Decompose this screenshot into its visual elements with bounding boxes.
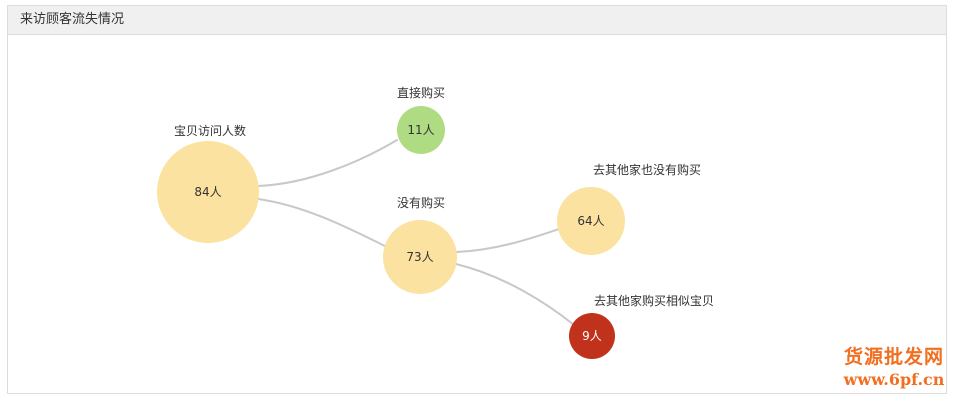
diagram-node-value-no-purchase-elsewhere: 64人 bbox=[577, 215, 604, 227]
panel-header: 来访顾客流失情况 bbox=[8, 6, 946, 35]
flow-diagram: 84人宝贝访问人数11人直接购买73人没有购买64人去其他家也没有购买9人去其他… bbox=[8, 36, 946, 393]
diagram-links-layer bbox=[8, 36, 946, 393]
diagram-node-label-visits: 宝贝访问人数 bbox=[174, 124, 246, 138]
diagram-node-no-purchase[interactable]: 73人 bbox=[383, 220, 457, 294]
page-title: 来访顾客流失情况 bbox=[20, 12, 124, 28]
diagram-node-value-bought-similar-elsewhere: 9人 bbox=[582, 330, 602, 342]
diagram-node-label-direct-purchase: 直接购买 bbox=[397, 86, 445, 100]
diagram-link-no-purchase-to-no-purchase-elsewhere bbox=[457, 229, 559, 252]
diagram-node-bought-similar-elsewhere[interactable]: 9人 bbox=[569, 313, 615, 359]
diagram-node-label-no-purchase: 没有购买 bbox=[397, 196, 445, 210]
diagram-node-direct-purchase[interactable]: 11人 bbox=[397, 106, 445, 154]
diagram-node-visits[interactable]: 84人 bbox=[157, 141, 259, 243]
diagram-node-value-direct-purchase: 11人 bbox=[407, 124, 434, 136]
diagram-link-visits-to-direct-purchase bbox=[258, 140, 397, 186]
chart-panel: 来访顾客流失情况 84人宝贝访问人数11人直接购买73人没有购买64人去其他家也… bbox=[7, 5, 947, 394]
diagram-node-no-purchase-elsewhere[interactable]: 64人 bbox=[557, 187, 625, 255]
diagram-node-value-no-purchase: 73人 bbox=[406, 251, 433, 263]
diagram-node-value-visits: 84人 bbox=[194, 186, 221, 198]
diagram-node-label-bought-similar-elsewhere: 去其他家购买相似宝贝 bbox=[594, 294, 714, 308]
diagram-node-label-no-purchase-elsewhere: 去其他家也没有购买 bbox=[593, 163, 701, 177]
diagram-link-visits-to-no-purchase bbox=[258, 199, 387, 247]
diagram-link-no-purchase-to-bought-similar-elsewhere bbox=[456, 264, 574, 325]
